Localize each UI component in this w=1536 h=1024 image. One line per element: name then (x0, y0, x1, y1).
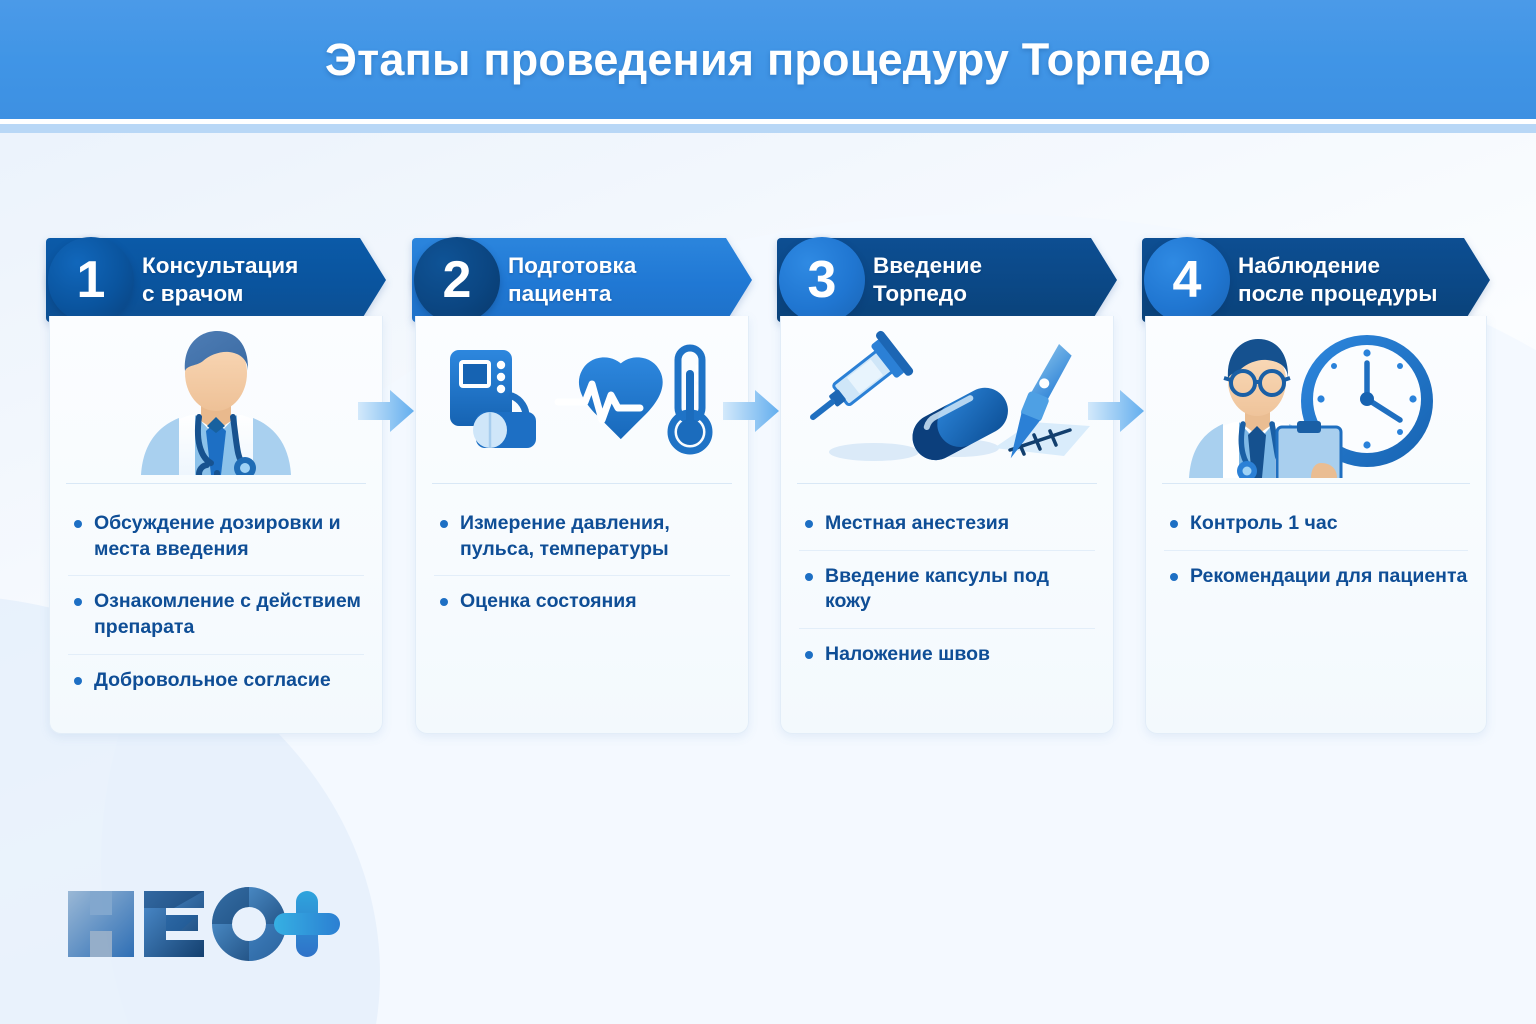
bullet-item: Измерение давления, пульса, температуры (434, 498, 730, 576)
step-number-badge-1: 1 (48, 237, 134, 323)
bullet-item: Контроль 1 час (1164, 498, 1468, 551)
bullet-item: Рекомендации для пациента (1164, 551, 1468, 603)
bullet-text: Рекомендации для пациента (1190, 564, 1467, 590)
brand-logo[interactable] (64, 881, 344, 968)
neo-plus-logo-icon (64, 881, 344, 963)
bullet-item: Ознакомление с действием препарата (68, 576, 364, 654)
step-bullets-1: Обсуждение дозировки и места введения Оз… (50, 484, 382, 707)
step-header-2: 2 Подготовка пациента (412, 238, 752, 322)
step-icon-zone-3 (781, 316, 1113, 484)
arrow-step1-to-step2 (356, 388, 416, 434)
bullet-text: Местная анестезия (825, 511, 1009, 537)
bullet-item: Оценка состояния (434, 576, 730, 628)
page-header: Этапы проведения процедуру Торпедо (0, 0, 1536, 119)
step-icon-zone-4 (1146, 316, 1486, 484)
bullet-text: Измерение давления, пульса, температуры (460, 511, 730, 562)
surgical-icons (802, 330, 1092, 470)
syringe-icon (802, 330, 915, 440)
bullet-dot-icon (805, 651, 813, 659)
bullet-text: Наложение швов (825, 642, 990, 668)
bullet-text: Ознакомление с действием препарата (94, 589, 364, 640)
bullet-text: Обсуждение дозировки и места введения (94, 511, 364, 562)
step-body-2: Измерение давления, пульса, температуры … (415, 316, 749, 734)
bullet-item: Местная анестезия (799, 498, 1095, 551)
step-title-2: Подготовка пациента (508, 252, 636, 308)
step-card-1[interactable]: 1 Консультация с врачом (46, 232, 386, 734)
heart-pulse-icon (558, 357, 663, 439)
bullet-dot-icon (805, 520, 813, 528)
blood-pressure-monitor-icon (450, 350, 536, 448)
step-bullets-2: Измерение давления, пульса, температуры … (416, 484, 748, 628)
bullet-dot-icon (74, 598, 82, 606)
step-title-1: Консультация с врачом (142, 252, 298, 308)
icon-divider-4 (1162, 483, 1470, 484)
bullet-text: Введение капсулы под кожу (825, 564, 1095, 615)
page-title: Этапы проведения процедуру Торпедо (325, 34, 1211, 86)
step-header-1: 1 Консультация с врачом (46, 238, 386, 322)
bullet-dot-icon (440, 520, 448, 528)
step-icon-zone-1 (50, 316, 382, 484)
doctor-clock-icon (1171, 323, 1461, 478)
bullet-dot-icon (805, 573, 813, 581)
step-number-badge-4: 4 (1144, 237, 1230, 323)
step-card-3[interactable]: 3 Введение Торпедо (777, 232, 1117, 734)
bullet-dot-icon (440, 598, 448, 606)
vitals-icons (442, 340, 722, 460)
doctor-icon (111, 325, 321, 475)
bullet-dot-icon (1170, 573, 1178, 581)
thermometer-icon (671, 348, 709, 451)
icon-divider-3 (797, 483, 1097, 484)
icon-divider-1 (66, 483, 366, 484)
arrow-step3-to-step4 (1086, 388, 1146, 434)
bullet-item: Обсуждение дозировки и места введения (68, 498, 364, 576)
step-header-4: 4 Наблюдение после процедуры (1142, 238, 1490, 322)
bullet-text: Оценка состояния (460, 589, 637, 615)
arrow-step2-to-step3 (721, 388, 781, 434)
step-header-3: 3 Введение Торпедо (777, 238, 1117, 322)
bullet-item: Добровольное согласие (68, 655, 364, 707)
step-number-badge-3: 3 (779, 237, 865, 323)
header-divider-blue (0, 124, 1536, 133)
bullet-text: Контроль 1 час (1190, 511, 1338, 537)
step-body-3: Местная анестезия Введение капсулы под к… (780, 316, 1114, 734)
bullet-item: Наложение швов (799, 629, 1095, 681)
bullet-dot-icon (1170, 520, 1178, 528)
step-bullets-4: Контроль 1 час Рекомендации для пациента (1146, 484, 1486, 602)
step-body-4: Контроль 1 час Рекомендации для пациента (1145, 316, 1487, 734)
step-bullets-3: Местная анестезия Введение капсулы под к… (781, 484, 1113, 681)
step-card-4[interactable]: 4 Наблюдение после процедуры (1142, 232, 1490, 734)
bullet-dot-icon (74, 677, 82, 685)
step-title-3: Введение Торпедо (873, 252, 982, 308)
step-title-4: Наблюдение после процедуры (1238, 252, 1437, 308)
steps-container: 1 Консультация с врачом (46, 232, 1490, 736)
bullet-dot-icon (74, 520, 82, 528)
step-icon-zone-2 (416, 316, 748, 484)
bullet-item: Введение капсулы под кожу (799, 551, 1095, 629)
step-number-badge-2: 2 (414, 237, 500, 323)
step-card-2[interactable]: 2 Подготовка пациента (412, 232, 752, 734)
bullet-text: Добровольное согласие (94, 668, 331, 694)
icon-divider-2 (432, 483, 732, 484)
step-body-1: Обсуждение дозировки и места введения Оз… (49, 316, 383, 734)
